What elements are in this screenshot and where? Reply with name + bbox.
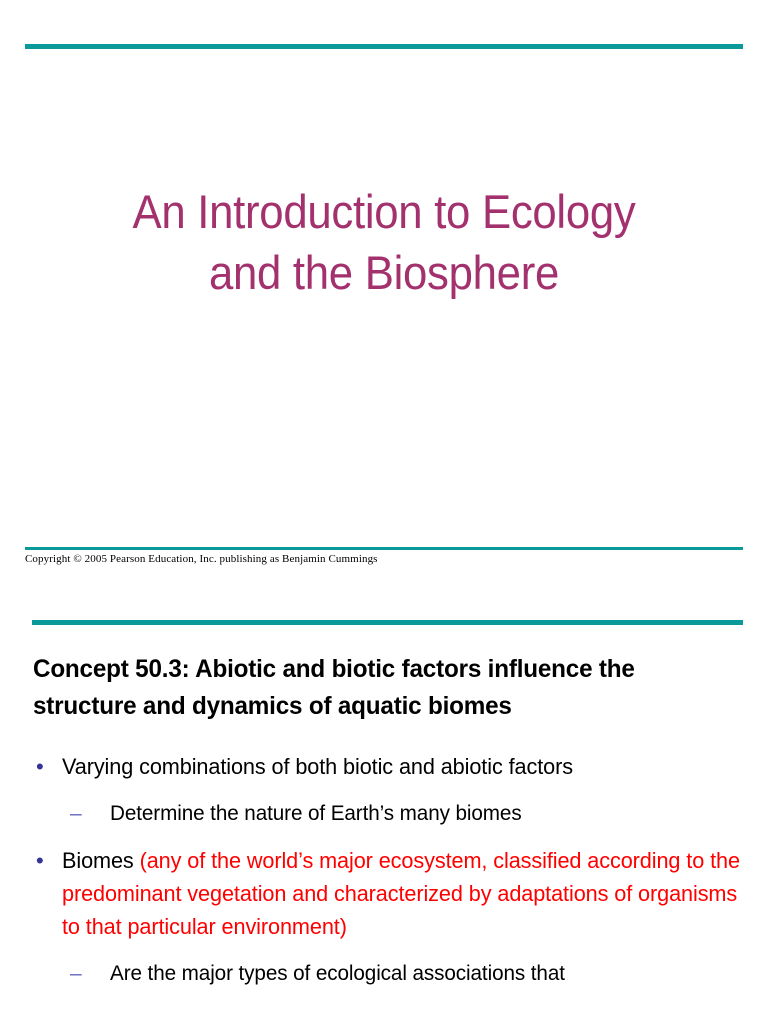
page-title: An Introduction to Ecologyand the Biosph… [83,181,686,303]
list-item-text: Varying combinations of both biotic and … [62,750,757,783]
list-item-text-highlight: (any of the world’s major ecosystem, cla… [62,848,740,939]
list-item: – Are the major types of ecological asso… [70,957,768,990]
top-accent-rule [25,44,743,49]
list-item-text-plain: Biomes [62,848,140,873]
title-line-2: and the Biosphere [209,246,559,299]
slide-content-page: Concept 50.3: Abiotic and biotic factors… [0,590,768,1024]
document-page: An Introduction to Ecologyand the Biosph… [0,0,768,1024]
bullet-list: • Varying combinations of both biotic an… [0,750,768,1004]
list-item: – Determine the nature of Earth’s many b… [70,797,768,830]
bullet-dot-icon: • [36,750,44,783]
bullet-dash-icon: – [70,957,82,990]
list-item: • Biomes (any of the world’s major ecosy… [36,844,768,943]
bullet-dot-icon: • [36,844,44,877]
list-item-text: Biomes (any of the world’s major ecosyst… [62,844,757,943]
slide-title-page: An Introduction to Ecologyand the Biosph… [0,0,768,590]
content-accent-rule [32,620,743,625]
list-item-text: Determine the nature of Earth’s many bio… [110,797,758,830]
concept-heading: Concept 50.3: Abiotic and biotic factors… [33,651,712,725]
title-line-1: An Introduction to Ecology [132,185,635,238]
list-item: • Varying combinations of both biotic an… [36,750,768,783]
list-item-text: Are the major types of ecological associ… [110,957,758,990]
copyright-accent-rule [25,547,743,550]
copyright-notice: Copyright © 2005 Pearson Education, Inc.… [25,553,378,565]
bullet-dash-icon: – [70,797,82,830]
